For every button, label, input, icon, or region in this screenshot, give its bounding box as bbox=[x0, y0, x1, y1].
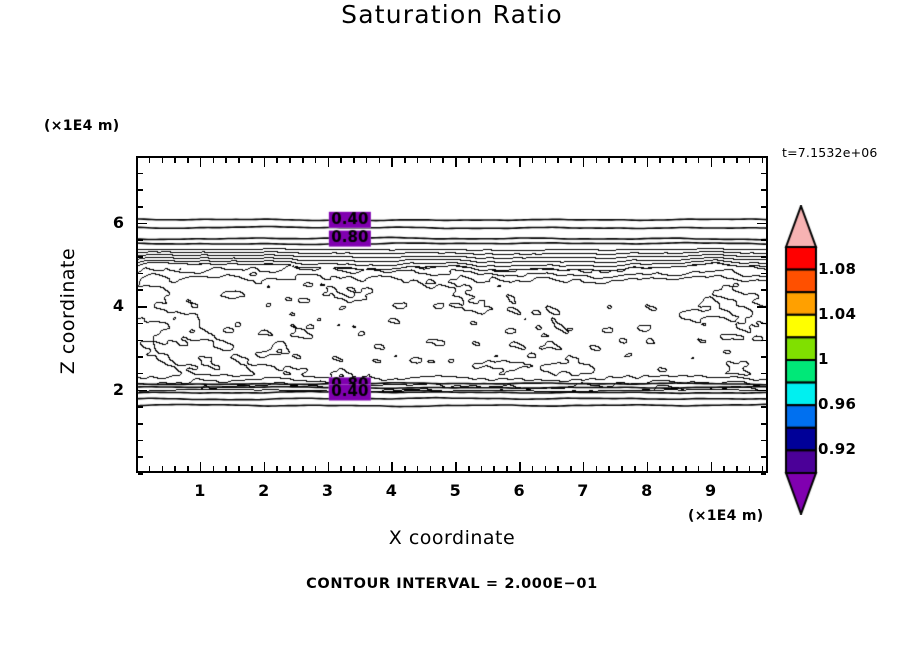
axis-tick bbox=[621, 158, 623, 163]
axis-tick bbox=[138, 440, 143, 442]
axis-tick bbox=[302, 466, 304, 471]
axis-tick bbox=[532, 466, 534, 471]
y-axis-unit-label: (×1E4 m) bbox=[44, 118, 119, 134]
axis-tick bbox=[238, 158, 240, 163]
axis-tick bbox=[506, 466, 508, 471]
axis-tick bbox=[200, 158, 202, 167]
axis-tick bbox=[455, 462, 457, 471]
colorbar-label-3: 0.96 bbox=[818, 395, 856, 413]
x-tick-label-3: 4 bbox=[371, 481, 411, 500]
axis-tick bbox=[138, 323, 143, 325]
axis-tick bbox=[238, 466, 240, 471]
axis-tick bbox=[647, 462, 649, 471]
x-axis-title: X coordinate bbox=[236, 527, 668, 549]
axis-tick bbox=[353, 158, 355, 163]
axis-tick bbox=[736, 466, 738, 471]
x-tick-label-5: 6 bbox=[499, 481, 539, 500]
axis-tick bbox=[391, 462, 393, 471]
y-axis-title: Z coordinate bbox=[57, 211, 79, 411]
axis-tick bbox=[162, 158, 164, 163]
axis-tick bbox=[302, 158, 304, 163]
axis-tick bbox=[647, 158, 649, 167]
axis-tick bbox=[749, 158, 751, 163]
axis-tick bbox=[583, 158, 585, 167]
axis-tick bbox=[761, 206, 766, 208]
axis-tick bbox=[736, 158, 738, 163]
axis-tick bbox=[468, 466, 470, 471]
axis-tick bbox=[138, 456, 143, 458]
y-tick-label-2: 6 bbox=[94, 213, 124, 232]
axis-tick bbox=[519, 158, 521, 167]
axis-tick bbox=[138, 289, 143, 291]
colorbar-label-4: 0.92 bbox=[818, 440, 856, 458]
x-tick-label-8: 9 bbox=[691, 481, 731, 500]
axis-tick bbox=[264, 158, 266, 167]
axis-tick bbox=[136, 466, 138, 471]
x-tick-label-7: 8 bbox=[627, 481, 667, 500]
axis-tick bbox=[289, 158, 291, 163]
axis-tick bbox=[723, 158, 725, 163]
axis-tick bbox=[276, 466, 278, 471]
y-tick-label-1: 4 bbox=[94, 296, 124, 315]
axis-tick bbox=[621, 466, 623, 471]
axis-tick bbox=[442, 158, 444, 163]
axis-tick bbox=[138, 239, 143, 241]
axis-tick bbox=[149, 158, 151, 163]
axis-tick bbox=[761, 473, 766, 475]
axis-tick bbox=[328, 462, 330, 471]
axis-tick bbox=[519, 462, 521, 471]
axis-tick bbox=[570, 466, 572, 471]
axis-tick bbox=[379, 466, 381, 471]
axis-tick bbox=[162, 466, 164, 471]
axis-tick bbox=[493, 158, 495, 163]
axis-tick bbox=[187, 466, 189, 471]
axis-tick bbox=[315, 466, 317, 471]
axis-tick bbox=[761, 456, 766, 458]
axis-tick bbox=[761, 340, 766, 342]
axis-tick bbox=[315, 158, 317, 163]
axis-tick bbox=[366, 466, 368, 471]
axis-tick bbox=[404, 158, 406, 163]
axis-tick bbox=[761, 273, 766, 275]
axis-tick bbox=[138, 340, 143, 342]
x-tick-label-2: 3 bbox=[308, 481, 348, 500]
colorbar-label-2: 1 bbox=[818, 350, 829, 368]
axis-tick bbox=[430, 158, 432, 163]
axis-tick bbox=[557, 158, 559, 163]
axis-tick bbox=[417, 158, 419, 163]
axis-tick bbox=[608, 466, 610, 471]
axis-tick bbox=[366, 158, 368, 163]
axis-tick bbox=[328, 158, 330, 167]
axis-tick bbox=[596, 158, 598, 163]
axis-tick bbox=[251, 158, 253, 163]
axis-tick bbox=[659, 158, 661, 163]
axis-tick bbox=[481, 466, 483, 471]
axis-tick bbox=[761, 440, 766, 442]
axis-tick bbox=[506, 158, 508, 163]
axis-tick bbox=[634, 158, 636, 163]
axis-tick bbox=[711, 158, 713, 167]
colorbar-label-0: 1.08 bbox=[818, 260, 856, 278]
axis-tick bbox=[761, 289, 766, 291]
axis-tick bbox=[138, 256, 143, 258]
axis-tick bbox=[430, 466, 432, 471]
axis-tick bbox=[174, 466, 176, 471]
axis-tick bbox=[138, 423, 143, 425]
axis-tick bbox=[608, 158, 610, 163]
axis-tick bbox=[213, 158, 215, 163]
axis-tick bbox=[442, 466, 444, 471]
axis-tick bbox=[761, 173, 766, 175]
x-tick-label-6: 7 bbox=[563, 481, 603, 500]
axis-tick bbox=[138, 223, 147, 225]
axis-tick bbox=[149, 466, 151, 471]
axis-tick bbox=[749, 466, 751, 471]
axis-tick bbox=[659, 466, 661, 471]
axis-tick bbox=[583, 462, 585, 471]
axis-tick bbox=[138, 273, 143, 275]
axis-tick bbox=[761, 406, 766, 408]
axis-tick bbox=[545, 466, 547, 471]
contour-plot-area bbox=[136, 156, 768, 473]
axis-tick bbox=[213, 466, 215, 471]
axis-tick bbox=[138, 373, 143, 375]
axis-tick bbox=[174, 158, 176, 163]
axis-tick bbox=[200, 462, 202, 471]
axis-tick bbox=[289, 466, 291, 471]
axis-tick bbox=[557, 466, 559, 471]
axis-tick bbox=[136, 158, 138, 163]
axis-tick bbox=[138, 206, 143, 208]
axis-tick bbox=[761, 373, 766, 375]
axis-tick bbox=[723, 466, 725, 471]
axis-tick bbox=[225, 466, 227, 471]
axis-tick bbox=[570, 158, 572, 163]
axis-tick bbox=[545, 158, 547, 163]
axis-tick bbox=[762, 466, 764, 471]
axis-tick bbox=[761, 189, 766, 191]
axis-tick bbox=[138, 189, 143, 191]
axis-tick bbox=[493, 466, 495, 471]
x-tick-label-1: 2 bbox=[244, 481, 284, 500]
axis-tick bbox=[757, 390, 766, 392]
axis-tick bbox=[481, 158, 483, 163]
axis-tick bbox=[138, 406, 143, 408]
colorbar: 1.081.0410.960.92 bbox=[782, 205, 900, 515]
axis-tick bbox=[379, 158, 381, 163]
axis-tick bbox=[138, 306, 147, 308]
axis-tick bbox=[353, 466, 355, 471]
axis-tick bbox=[404, 466, 406, 471]
axis-tick bbox=[762, 158, 764, 163]
axis-tick bbox=[711, 462, 713, 471]
axis-tick bbox=[225, 158, 227, 163]
axis-tick bbox=[672, 466, 674, 471]
axis-tick bbox=[634, 466, 636, 471]
x-axis-unit-label: (×1E4 m) bbox=[688, 508, 763, 524]
axis-tick bbox=[761, 256, 766, 258]
axis-tick bbox=[340, 158, 342, 163]
axis-tick bbox=[757, 306, 766, 308]
timestamp-label: t=7.1532e+06 bbox=[782, 145, 878, 160]
axis-tick bbox=[138, 390, 147, 392]
colorbar-label-1: 1.04 bbox=[818, 305, 856, 323]
axis-tick bbox=[685, 466, 687, 471]
axis-tick bbox=[698, 158, 700, 163]
axis-tick bbox=[757, 223, 766, 225]
axis-tick bbox=[138, 473, 143, 475]
axis-tick bbox=[596, 466, 598, 471]
chart-title: Saturation Ratio bbox=[0, 0, 904, 29]
colorbar-canvas bbox=[782, 205, 822, 515]
axis-tick bbox=[761, 356, 766, 358]
axis-tick bbox=[251, 466, 253, 471]
contour-field-canvas bbox=[136, 156, 768, 473]
axis-tick bbox=[761, 423, 766, 425]
axis-tick bbox=[391, 158, 393, 167]
x-tick-label-4: 5 bbox=[435, 481, 475, 500]
axis-tick bbox=[532, 158, 534, 163]
axis-tick bbox=[187, 158, 189, 163]
x-tick-label-0: 1 bbox=[180, 481, 220, 500]
y-tick-label-0: 2 bbox=[94, 380, 124, 399]
axis-tick bbox=[138, 356, 143, 358]
contour-interval-label: CONTOUR INTERVAL = 2.000E−01 bbox=[186, 576, 718, 592]
axis-tick bbox=[340, 466, 342, 471]
axis-tick bbox=[672, 158, 674, 163]
axis-tick bbox=[761, 323, 766, 325]
axis-tick bbox=[685, 158, 687, 163]
axis-tick bbox=[138, 173, 143, 175]
axis-tick bbox=[417, 466, 419, 471]
axis-tick bbox=[455, 158, 457, 167]
axis-tick bbox=[264, 462, 266, 471]
axis-tick bbox=[698, 466, 700, 471]
axis-tick bbox=[276, 158, 278, 163]
axis-tick bbox=[468, 158, 470, 163]
axis-tick bbox=[761, 239, 766, 241]
